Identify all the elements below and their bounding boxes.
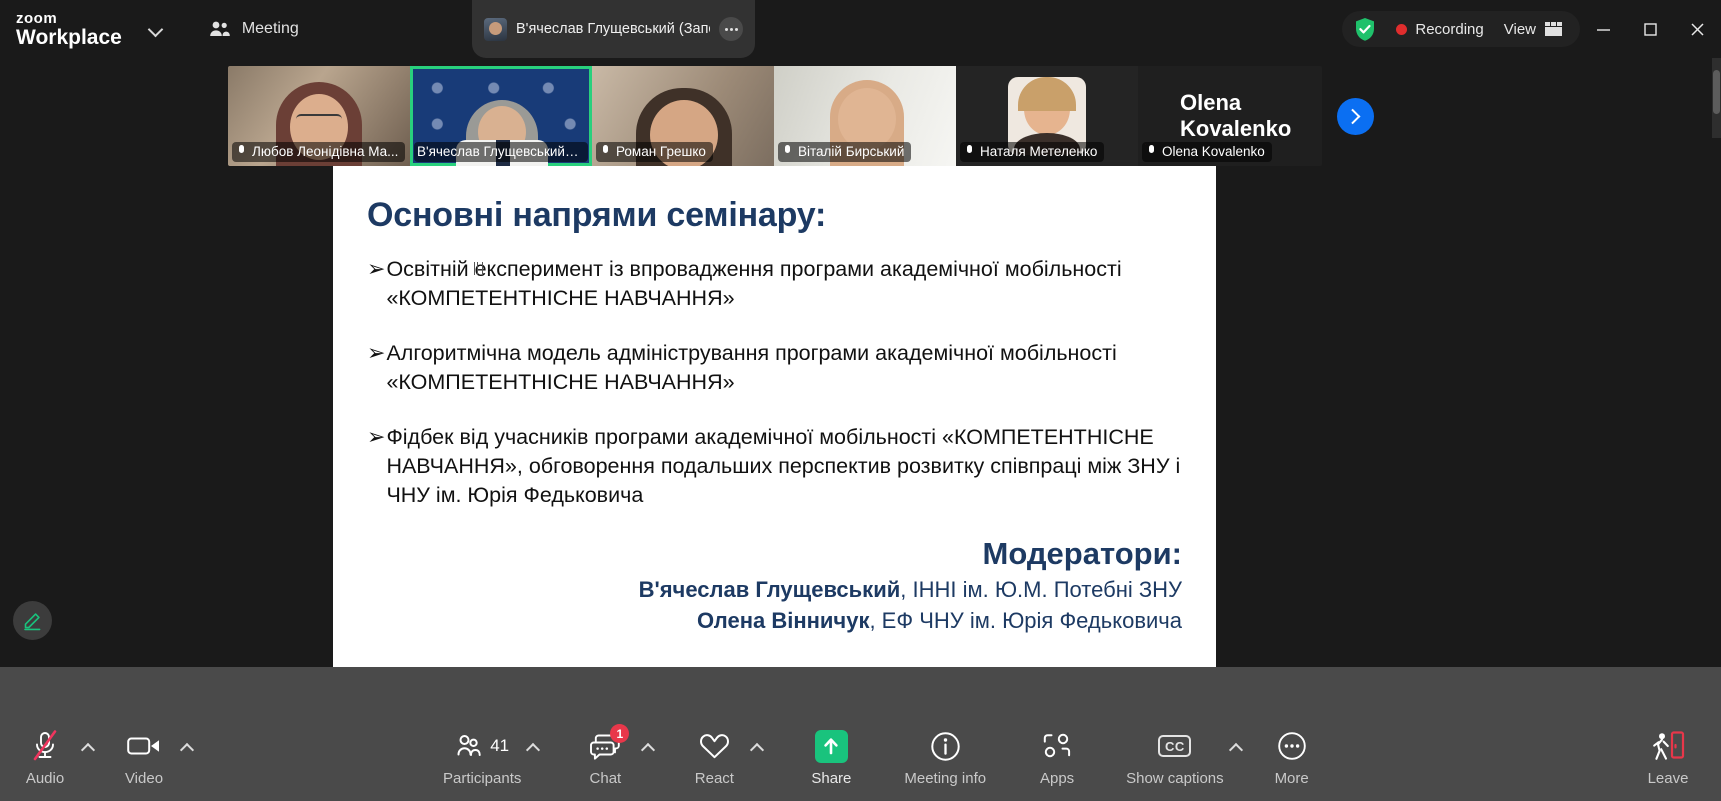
window-controls-area: Recording View — [1342, 0, 1721, 58]
moderators-heading: Модератори: — [367, 536, 1182, 572]
video-thumbnail-no-video[interactable]: Olena Kovalenko Olena Kovalenko — [1138, 66, 1322, 166]
zoom-workplace-logo: zoom Workplace — [16, 11, 122, 48]
tab-avatar — [484, 18, 507, 41]
toolbar-center-group: 41 Participants 1 Chat — [443, 727, 1323, 787]
participant-filmstrip[interactable]: Любов Леонідівна Ма... В'ячеслав Глущевс… — [228, 66, 1322, 166]
pencil-icon — [22, 610, 43, 631]
slide-title: Основні напрями семінару: — [367, 196, 1182, 235]
more-label: More — [1275, 770, 1309, 787]
apps-label: Apps — [1040, 770, 1074, 787]
bullet-arrow-icon: ➢ — [367, 423, 385, 510]
filmstrip-next-button[interactable] — [1337, 98, 1374, 135]
mic-muted-icon — [1145, 144, 1158, 159]
title-bar: zoom Workplace Meeting В'ячеслав Глущевс… — [0, 0, 1721, 58]
meeting-info-button[interactable]: Meeting info — [904, 727, 986, 787]
react-options-chevron-icon[interactable] — [751, 741, 764, 754]
audio-options-chevron-icon[interactable] — [82, 741, 95, 754]
leave-door-icon — [1650, 727, 1686, 765]
mic-muted-icon — [781, 144, 794, 159]
chat-label: Chat — [590, 770, 622, 787]
thumbnail-name: Наталя Метеленко — [980, 144, 1097, 159]
heart-icon — [699, 727, 730, 765]
thumbnail-name: Роман Грешко — [616, 144, 706, 159]
chat-options-chevron-icon[interactable] — [642, 741, 655, 754]
mic-muted-icon — [963, 144, 976, 159]
slide-moderators-block: Модератори: В'ячеслав Глущевський, ІННІ … — [367, 536, 1182, 634]
video-thumbnail[interactable]: Любов Леонідівна Ма... — [228, 66, 410, 166]
view-label: View — [1504, 21, 1536, 38]
thumbnail-name-badge: Віталій Бирський — [778, 142, 911, 162]
cc-label: CC — [1158, 735, 1191, 757]
video-thumbnail[interactable]: Віталій Бирський — [774, 66, 956, 166]
moderator-name: Олена Вінничук — [697, 608, 870, 633]
leave-button[interactable]: Leave — [1637, 727, 1699, 787]
close-button[interactable] — [1674, 0, 1721, 58]
microphone-muted-icon — [30, 727, 60, 765]
meeting-info-label: Meeting info — [904, 770, 986, 787]
mic-muted-icon — [599, 144, 612, 159]
mouse-cursor — [474, 262, 482, 275]
window-scrollbar[interactable] — [1712, 58, 1721, 138]
slide-bullet-text: Освітній експеримент із впровадження про… — [386, 255, 1182, 313]
recording-label: Recording — [1415, 21, 1483, 38]
video-options-chevron-icon[interactable] — [181, 741, 194, 754]
audio-label: Audio — [26, 770, 64, 787]
slide-bullet-text: Фідбек від учасників програми академічно… — [386, 423, 1182, 510]
share-button[interactable]: Share — [800, 727, 862, 787]
slide-bullet-item: ➢ Фідбек від учасників програми академіч… — [367, 423, 1182, 510]
slide-bullet-text: Алгоритмічна модель адміністрування прог… — [386, 339, 1182, 397]
tab-title: В'ячеслав Глущевський (Запорі: — [516, 21, 710, 37]
participants-options-chevron-icon[interactable] — [527, 741, 540, 754]
maximize-button[interactable] — [1627, 0, 1674, 58]
thumbnail-name-badge: Olena Kovalenko — [1142, 142, 1272, 162]
captions-options-chevron-icon[interactable] — [1230, 741, 1243, 754]
info-icon — [930, 727, 961, 765]
video-thumbnail[interactable]: Наталя Метеленко — [956, 66, 1138, 166]
share-screen-icon — [815, 727, 848, 765]
moderator-entry: В'ячеслав Глущевський, ІННІ ім. Ю.М. Пот… — [367, 577, 1182, 603]
toolbar-left-group: Audio Video — [14, 727, 194, 787]
active-meeting-tab[interactable]: В'ячеслав Глущевський (Запорі: — [472, 0, 755, 58]
moderator-affiliation: , ЕФ ЧНУ ім. Юрія Федьковича — [869, 608, 1182, 633]
thumbnail-name: Olena Kovalenko — [1162, 144, 1265, 159]
participants-group-icon — [208, 20, 232, 38]
show-captions-label: Show captions — [1126, 770, 1224, 787]
meeting-nav-item[interactable]: Meeting — [208, 20, 299, 38]
thumbnail-name: Любов Леонідівна Ма... — [252, 144, 398, 159]
moderator-name: В'ячеслав Глущевський — [639, 577, 901, 602]
react-label: React — [695, 770, 734, 787]
thumbnail-name-badge: Наталя Метеленко — [960, 142, 1104, 162]
more-ellipsis-icon — [1277, 727, 1307, 765]
apps-icon — [1042, 727, 1072, 765]
thumbnail-name: В'ячеслав Глущевський (... — [417, 144, 581, 159]
show-captions-button[interactable]: CC Show captions — [1126, 727, 1224, 787]
chat-button[interactable]: 1 Chat — [574, 727, 636, 787]
thumbnail-name-badge: Роман Грешко — [596, 142, 713, 162]
bullet-arrow-icon: ➢ — [367, 255, 385, 313]
apps-button[interactable]: Apps — [1026, 727, 1088, 787]
recording-dot-icon — [1396, 24, 1407, 35]
thumbnail-name: Віталій Бирський — [798, 144, 904, 159]
chat-unread-badge: 1 — [610, 724, 629, 743]
thumbnail-name-badge: В'ячеслав Глущевський (... — [414, 142, 588, 162]
participants-label: Participants — [443, 770, 521, 787]
view-button[interactable]: View — [1494, 21, 1572, 38]
meeting-toolbar: Audio Video 41 — [0, 667, 1721, 801]
layout-grid-icon — [1545, 22, 1562, 37]
moderator-affiliation: , ІННІ ім. Ю.М. Потебні ЗНУ — [900, 577, 1182, 602]
slide-bullet-item: ➢ Алгоритмічна модель адміністрування пр… — [367, 339, 1182, 397]
camera-icon — [127, 727, 162, 765]
participants-button[interactable]: 41 Participants — [443, 727, 521, 787]
annotate-button[interactable] — [13, 601, 52, 640]
brand-workplace: Workplace — [16, 27, 122, 48]
slide-bullet-list: ➢ Освітній експеримент із впровадження п… — [367, 255, 1182, 510]
moderator-entry: Олена Вінничук, ЕФ ЧНУ ім. Юрія Федькови… — [367, 608, 1182, 634]
bullet-arrow-icon: ➢ — [367, 339, 385, 397]
audio-button[interactable]: Audio — [14, 727, 76, 787]
featured-participant-name: Olena Kovalenko — [1180, 90, 1322, 142]
participants-icon: 41 — [455, 727, 509, 765]
leave-label: Leave — [1648, 770, 1689, 787]
mic-muted-icon — [235, 144, 248, 159]
toolbar-right-group: Leave — [1637, 727, 1699, 787]
slide-bullet-item: ➢ Освітній експеримент із впровадження п… — [367, 255, 1182, 313]
chat-icon: 1 — [589, 727, 621, 765]
video-thumbnail-active-speaker[interactable]: В'ячеслав Глущевський (... — [410, 66, 592, 166]
shared-screen-slide[interactable]: Основні напрями семінару: ➢ Освітній екс… — [333, 166, 1216, 667]
video-button[interactable]: Video — [113, 727, 175, 787]
tab-more-icon[interactable] — [719, 17, 743, 41]
closed-captions-icon: CC — [1158, 727, 1191, 765]
status-pill: Recording View — [1342, 11, 1580, 47]
more-button[interactable]: More — [1261, 727, 1323, 787]
meeting-nav-label: Meeting — [242, 20, 299, 38]
brand-zoom: zoom — [16, 11, 122, 26]
video-label: Video — [125, 770, 163, 787]
react-button[interactable]: React — [683, 727, 745, 787]
minimize-button[interactable] — [1580, 0, 1627, 58]
participants-count: 41 — [490, 736, 509, 756]
recording-indicator[interactable]: Recording — [1386, 21, 1493, 38]
encryption-shield-icon[interactable] — [1354, 17, 1376, 42]
video-thumbnail[interactable]: Роман Грешко — [592, 66, 774, 166]
chevron-down-icon[interactable] — [148, 21, 164, 37]
share-label: Share — [811, 770, 851, 787]
thumbnail-name-badge: Любов Леонідівна Ма... — [232, 142, 405, 162]
